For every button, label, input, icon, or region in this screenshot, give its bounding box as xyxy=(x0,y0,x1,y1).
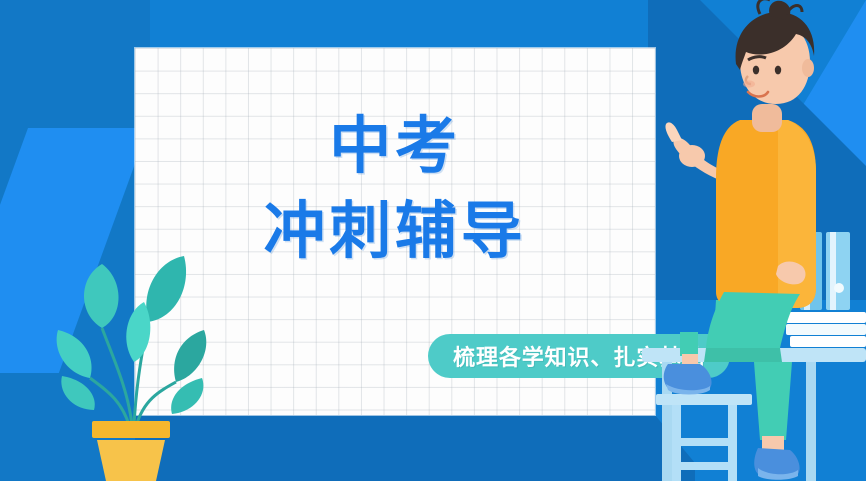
book-stack-icon xyxy=(786,312,866,347)
headline-line-1: 中考 xyxy=(135,116,655,178)
panel-drop-shadow xyxy=(135,415,695,481)
table-leg-right xyxy=(806,362,816,481)
character-head xyxy=(736,0,815,104)
pants-front-upper xyxy=(706,292,800,348)
potted-plant xyxy=(44,250,214,481)
promo-banner: 中考 冲刺辅导 梳理各学知识、扎实基础 xyxy=(0,0,866,481)
plant-pot xyxy=(92,421,170,481)
student-illustration xyxy=(620,0,866,481)
plant-leaves xyxy=(57,256,207,414)
index-finger xyxy=(665,122,682,142)
pants-front-lower xyxy=(754,362,792,440)
